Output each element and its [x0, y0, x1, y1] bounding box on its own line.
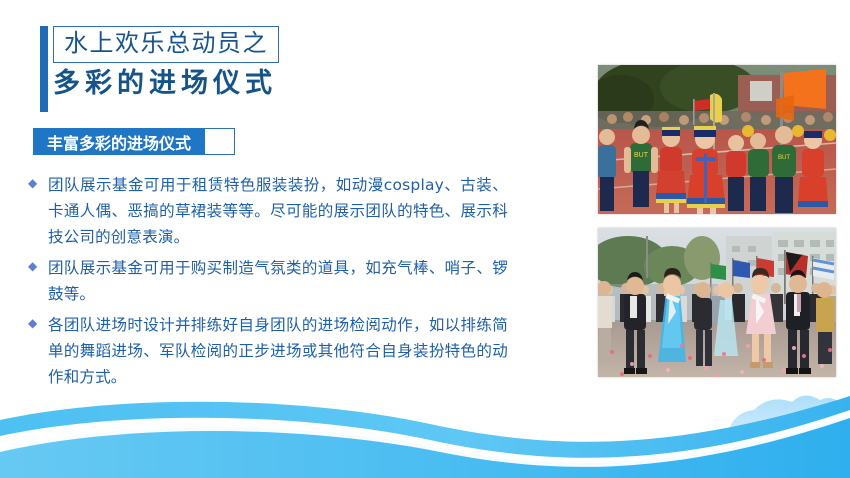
title-kicker-box: 水上欢乐总动员之	[53, 26, 279, 63]
page-title: 多彩的进场仪式	[53, 65, 277, 103]
wave-highlight	[0, 410, 850, 467]
wave-stroke-upper	[0, 396, 850, 458]
title-block: 水上欢乐总动员之 多彩的进场仪式	[40, 26, 340, 112]
list-item: ◆ 各团队进场时设计并排练好自身团队的进场检阅动作，如以排练简单的舞蹈进场、军队…	[28, 312, 508, 390]
photo-parade-costumes-image: BUT	[598, 65, 836, 214]
svg-text:BUT: BUT	[634, 152, 649, 159]
photo-parade-formal-image	[598, 228, 836, 377]
list-item: ◆ 团队展示基金可用于租赁特色服装装扮，如动漫cosplay、古装、卡通人偶、恶…	[28, 172, 508, 250]
diamond-bullet-icon: ◆	[28, 172, 48, 189]
slide-canvas: 水上欢乐总动员之 多彩的进场仪式 丰富多彩的进场仪式 ◆ 团队展示基金可用于租赁…	[0, 0, 850, 478]
wave-body	[0, 416, 850, 478]
svg-text:BUT: BUT	[778, 155, 790, 161]
list-item-text: 各团队进场时设计并排练好自身团队的进场检阅动作，如以排练简单的舞蹈进场、军队检阅…	[48, 312, 508, 390]
cloud-shape	[700, 395, 850, 446]
photo-parade-costumes: BUT	[598, 65, 836, 214]
photo-parade-formal	[598, 228, 836, 377]
list-item: ◆ 团队展示基金可用于购买制造气氛类的道具，如充气棒、哨子、锣鼓等。	[28, 255, 508, 307]
title-kicker: 水上欢乐总动员之	[64, 29, 268, 59]
list-item-text: 团队展示基金可用于购买制造气氛类的道具，如充气棒、哨子、锣鼓等。	[48, 255, 508, 307]
bullet-list: ◆ 团队展示基金可用于租赁特色服装装扮，如动漫cosplay、古装、卡通人偶、恶…	[28, 172, 508, 395]
list-item-text: 团队展示基金可用于租赁特色服装装扮，如动漫cosplay、古装、卡通人偶、恶搞的…	[48, 172, 508, 250]
section-badge-label: 丰富多彩的进场仪式	[33, 128, 205, 155]
title-accent-bar	[40, 26, 48, 112]
diamond-bullet-icon: ◆	[28, 255, 48, 272]
diamond-bullet-icon: ◆	[28, 312, 48, 329]
